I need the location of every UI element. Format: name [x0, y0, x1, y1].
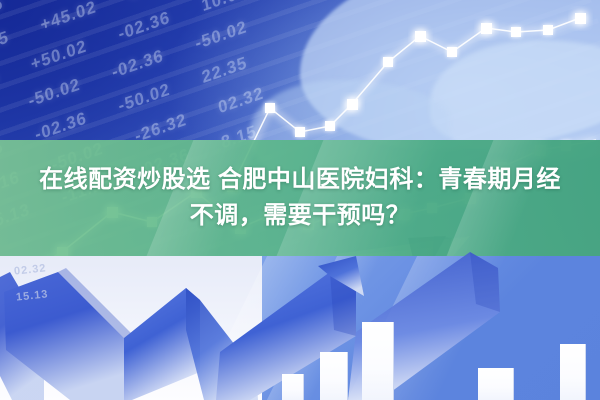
banner-image: -50.02 -02.36 21.05 45.02 8.15 -02.36 -1… [0, 0, 600, 400]
bar-4 [478, 368, 514, 400]
bar-5 [560, 344, 586, 400]
bar-1 [282, 374, 304, 400]
bar-2 [320, 352, 348, 400]
zigzag-arrows [0, 0, 600, 400]
bar-3 [362, 322, 394, 400]
